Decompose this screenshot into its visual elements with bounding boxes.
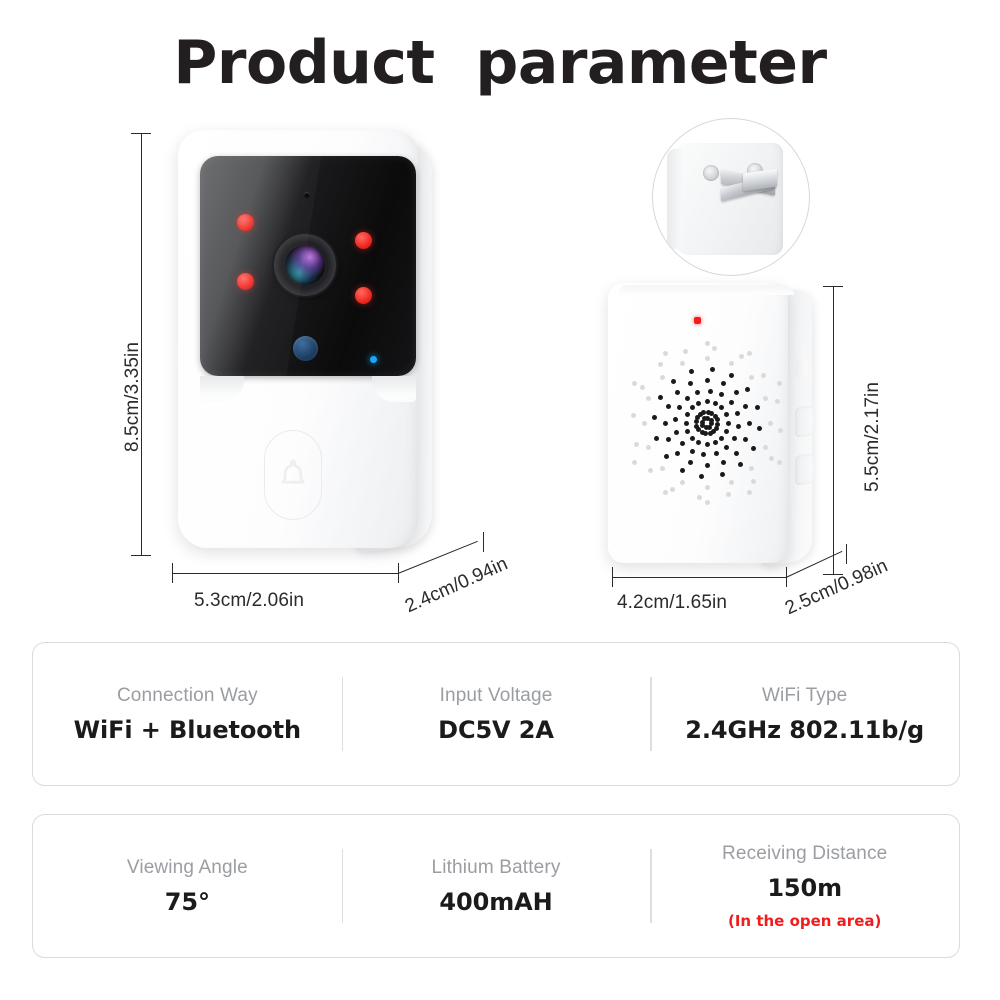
doorbell-notch-left xyxy=(200,376,244,402)
grille-dot xyxy=(729,373,734,378)
grille-dot xyxy=(685,412,690,417)
spec-label: Viewing Angle xyxy=(127,857,248,879)
grille-dot xyxy=(660,466,665,471)
chime-back-edge xyxy=(667,149,683,249)
chime-button-top[interactable] xyxy=(795,405,814,438)
grille-dot xyxy=(688,460,693,465)
spec-cell: Viewing Angle75° xyxy=(33,815,342,957)
spec-cell: WiFi Type2.4GHz 802.11b/g xyxy=(650,643,959,785)
spec-cell: Lithium Battery400mAH xyxy=(342,815,651,957)
grille-dot xyxy=(745,387,750,392)
chime-height-dimension-line xyxy=(833,286,834,574)
power-led-icon xyxy=(694,317,701,324)
grille-dot xyxy=(684,421,689,426)
grille-dot xyxy=(675,451,680,456)
grille-dot xyxy=(726,492,731,497)
grille-dot xyxy=(724,429,729,434)
screw-icon xyxy=(703,165,719,181)
grille-dot xyxy=(652,415,657,420)
grille-dot xyxy=(705,485,710,490)
doorbell-body xyxy=(178,130,418,548)
grille-dot xyxy=(777,460,782,465)
grille-dot xyxy=(719,405,724,410)
chime-button-bottom[interactable] xyxy=(795,453,814,486)
grille-dot xyxy=(729,361,734,366)
dimension-tick xyxy=(131,555,151,556)
grille-dot xyxy=(710,367,715,372)
grille-dot xyxy=(743,404,748,409)
grille-dot xyxy=(705,378,710,383)
grille-dot xyxy=(640,385,645,390)
grille-dot xyxy=(666,404,671,409)
grille-dot xyxy=(663,351,668,356)
grille-dot xyxy=(713,440,718,445)
spec-value: WiFi + Bluetooth xyxy=(74,716,301,744)
dimension-tick xyxy=(483,532,484,552)
grille-dot xyxy=(747,421,752,426)
grille-dot xyxy=(658,362,663,367)
chime-body xyxy=(608,283,788,563)
grille-dot xyxy=(675,390,680,395)
plug-detail-callout xyxy=(652,118,810,276)
grille-dot xyxy=(671,379,676,384)
grille-dot xyxy=(751,446,756,451)
bell-button[interactable] xyxy=(264,430,322,520)
product-illustration-stage: 8.5cm/3.35in 5.3cm/2.06in 2.4cm/0.94in 5… xyxy=(0,100,1000,630)
spec-label: WiFi Type xyxy=(762,685,847,707)
grille-dot xyxy=(690,449,695,454)
grille-dot xyxy=(729,480,734,485)
grille-dot xyxy=(680,361,685,366)
grille-dot xyxy=(632,460,637,465)
grille-dot xyxy=(632,381,637,386)
grille-dot xyxy=(729,400,734,405)
grille-dot xyxy=(775,399,780,404)
chime-top-bar xyxy=(618,285,794,295)
grille-dot xyxy=(695,390,700,395)
grille-dot xyxy=(648,468,653,473)
grille-dot xyxy=(705,500,710,505)
grille-dot xyxy=(685,429,690,434)
grille-dot xyxy=(677,405,682,410)
spec-label: Input Voltage xyxy=(440,685,553,707)
grille-dot xyxy=(757,426,762,431)
grille-dot xyxy=(749,375,754,380)
spec-cell: Input VoltageDC5V 2A xyxy=(342,643,651,785)
grille-dot xyxy=(697,495,702,500)
grille-dot xyxy=(778,428,783,433)
grille-dot xyxy=(664,454,669,459)
grille-dot xyxy=(654,436,659,441)
dimension-tick xyxy=(131,133,151,134)
dimension-tick xyxy=(172,563,173,583)
spec-cell: Connection WayWiFi + Bluetooth xyxy=(33,643,342,785)
grille-dot xyxy=(736,424,741,429)
grille-dot xyxy=(763,396,768,401)
grille-dot xyxy=(705,463,710,468)
grille-dot xyxy=(673,417,678,422)
grille-dot xyxy=(642,421,647,426)
grille-dot xyxy=(696,401,701,406)
grille-dot xyxy=(732,436,737,441)
grille-dot xyxy=(755,405,760,410)
grille-dot xyxy=(743,437,748,442)
grille-dot xyxy=(719,436,724,441)
chime-height-label: 5.5cm/2.17in xyxy=(862,382,884,492)
doorbell-notch-right xyxy=(372,376,416,402)
grille-dot xyxy=(666,437,671,442)
dimension-tick xyxy=(846,544,847,564)
spec-value: 2.4GHz 802.11b/g xyxy=(685,716,924,744)
grille-dot xyxy=(646,396,651,401)
grille-dot xyxy=(658,395,663,400)
grille-dot xyxy=(708,389,713,394)
grille-dot xyxy=(670,487,675,492)
grille-dot xyxy=(735,411,740,416)
chime-width-dimension-line xyxy=(612,577,786,578)
speaker-grille xyxy=(632,343,782,503)
grille-dot xyxy=(777,381,782,386)
spec-value: 150m xyxy=(767,874,842,902)
grille-dot xyxy=(739,354,744,359)
spec-label: Lithium Battery xyxy=(432,857,561,879)
grille-dot xyxy=(709,418,714,423)
bell-icon xyxy=(278,459,308,491)
grille-dot xyxy=(696,440,701,445)
grille-dot xyxy=(769,456,774,461)
ir-led-icon xyxy=(355,232,372,249)
ir-led-icon xyxy=(237,214,254,231)
grille-dot xyxy=(763,445,768,450)
grille-dot xyxy=(646,445,651,450)
grille-dot xyxy=(631,413,636,418)
spec-note: (In the open area) xyxy=(728,912,881,930)
grille-dot xyxy=(768,421,773,426)
grille-dot xyxy=(680,441,685,446)
grille-dot xyxy=(683,349,688,354)
grille-dot xyxy=(719,392,724,397)
grille-dot xyxy=(689,369,694,374)
lens-iris xyxy=(285,245,325,285)
camera-lens-icon xyxy=(274,234,336,296)
spec-cell: Receiving Distance150m(In the open area) xyxy=(650,815,959,957)
dimension-tick xyxy=(823,286,843,287)
grille-dot xyxy=(738,462,743,467)
doorbell-height-label: 8.5cm/3.35in xyxy=(122,342,144,452)
grille-dot xyxy=(734,451,739,456)
grille-dot xyxy=(705,399,710,404)
ir-led-icon xyxy=(237,273,254,290)
grille-dot xyxy=(680,468,685,473)
grille-dot xyxy=(705,341,710,346)
grille-dot xyxy=(705,356,710,361)
grille-dot xyxy=(690,405,695,410)
grille-dot xyxy=(708,431,713,436)
grille-dot xyxy=(705,442,710,447)
grille-dot xyxy=(680,480,685,485)
grille-dot xyxy=(720,472,725,477)
grille-dot xyxy=(694,419,699,424)
grille-dot xyxy=(721,381,726,386)
grille-dot xyxy=(721,460,726,465)
spec-card-row-1: Connection WayWiFi + BluetoothInput Volt… xyxy=(32,642,960,786)
dimension-tick xyxy=(612,567,613,587)
doorbell-width-dimension-line xyxy=(172,573,398,574)
grille-dot xyxy=(749,466,754,471)
status-led-icon xyxy=(370,356,377,363)
spec-value: 400mAH xyxy=(439,888,552,916)
doorbell-width-label: 5.3cm/2.06in xyxy=(194,590,304,612)
grille-dot xyxy=(674,430,679,435)
grille-dot xyxy=(761,373,766,378)
grille-dot xyxy=(663,490,668,495)
grille-dot xyxy=(634,442,639,447)
video-doorbell-illustration xyxy=(168,118,468,578)
grille-dot xyxy=(688,381,693,386)
grille-dot xyxy=(747,490,752,495)
grille-dot xyxy=(701,452,706,457)
grille-dot xyxy=(747,351,752,356)
spec-label: Receiving Distance xyxy=(722,843,887,865)
spec-label: Connection Way xyxy=(117,685,258,707)
grille-dot xyxy=(713,401,718,406)
pir-sensor-icon xyxy=(293,336,318,361)
grille-dot xyxy=(724,445,729,450)
grille-dot xyxy=(712,346,717,351)
spec-value: 75° xyxy=(165,888,210,916)
grille-dot xyxy=(714,451,719,456)
doorbell-glass-panel xyxy=(200,156,416,376)
grille-dot xyxy=(724,412,729,417)
chime-width-label: 4.2cm/1.65in xyxy=(617,592,727,614)
grille-dot xyxy=(685,396,690,401)
grille-dot xyxy=(660,375,665,380)
spec-card-row-2: Viewing Angle75°Lithium Battery400mAHRec… xyxy=(32,814,960,958)
grille-dot xyxy=(751,479,756,484)
microphone-icon xyxy=(304,192,310,198)
ir-led-icon xyxy=(355,287,372,304)
grille-dot xyxy=(690,436,695,441)
page-title: Product parameter xyxy=(0,28,1000,98)
chime-hanger-tab xyxy=(795,358,808,380)
chime-receiver-illustration xyxy=(600,275,850,580)
spec-value: DC5V 2A xyxy=(438,716,554,744)
grille-dot xyxy=(699,474,704,479)
grille-dot xyxy=(663,421,668,426)
grille-dot xyxy=(726,421,731,426)
grille-dot xyxy=(734,390,739,395)
